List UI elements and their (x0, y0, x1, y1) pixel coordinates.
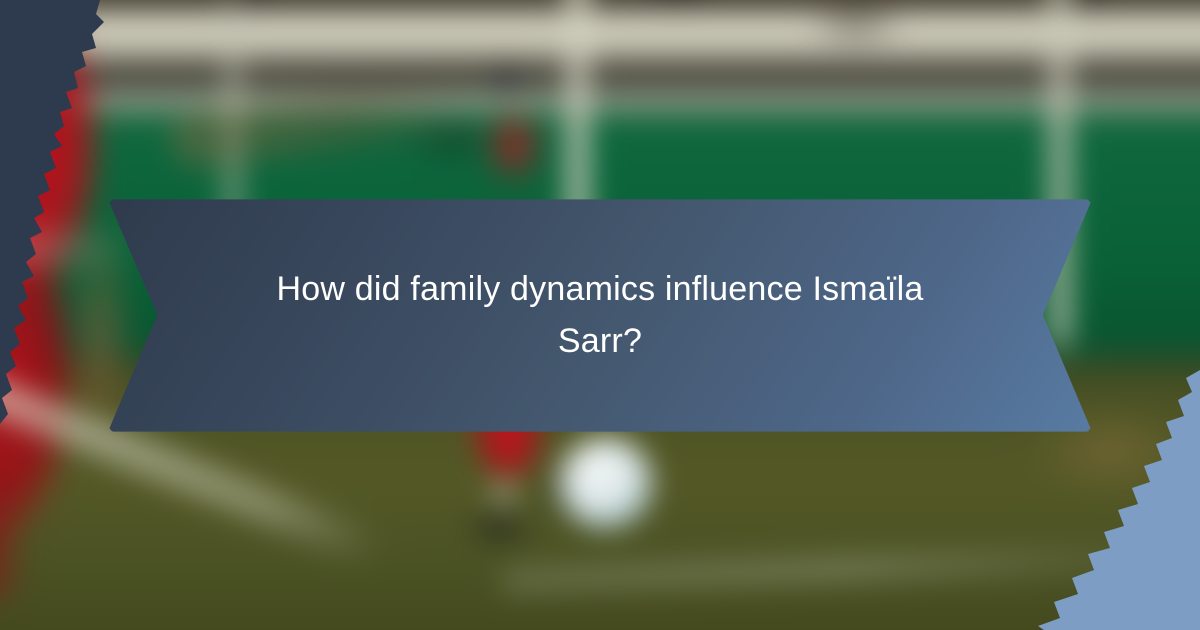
banner-content: How did family dynamics influence Ismaïl… (108, 198, 1092, 433)
question-banner: How did family dynamics influence Ismaïl… (108, 198, 1092, 433)
photo-player-midground (400, 60, 590, 190)
question-card: How did family dynamics influence Ismaïl… (0, 0, 1200, 630)
question-text: How did family dynamics influence Ismaïl… (230, 264, 970, 367)
photo-football (560, 438, 652, 528)
